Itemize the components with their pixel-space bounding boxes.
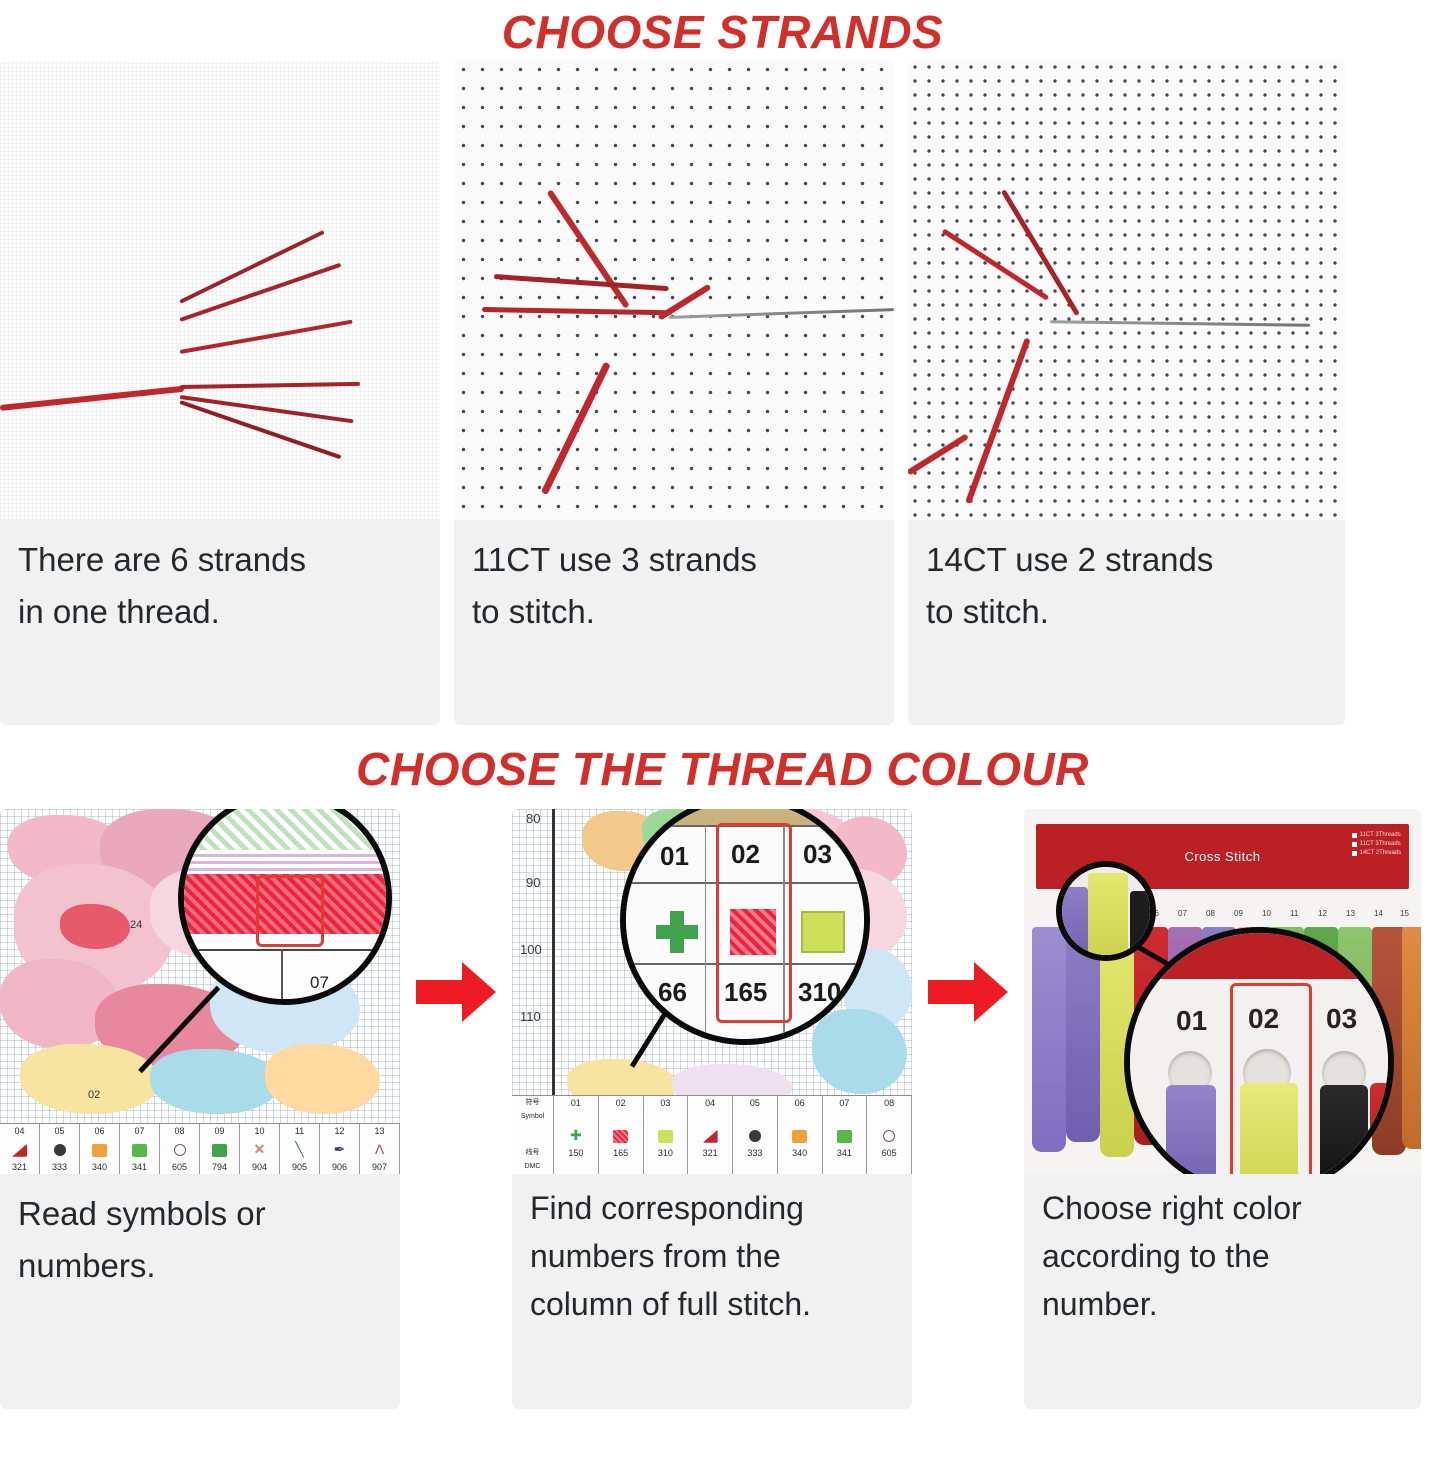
peg-number: 14 (1374, 909, 1383, 918)
caption-14ct: 14CT use 2 strands to stitch. (908, 520, 1345, 656)
skein-purple (1166, 1085, 1216, 1174)
legend-symbol-cell (823, 1124, 868, 1146)
skein-black (1320, 1085, 1368, 1174)
legend-header: 08 (867, 1096, 912, 1124)
card-11ct-three-strands: 11CT use 3 strands to stitch. (454, 60, 894, 725)
aida-14ct-texture (908, 60, 1345, 520)
chart-cell-label-24: 24 (130, 919, 142, 931)
magnifier-code-310: 310 (798, 977, 841, 1008)
legend-symbol-cell: ✒ (320, 1138, 360, 1160)
thread-organizer-card: Cross Stitch 11CT 3Threads 11CT 3Threads… (1024, 809, 1421, 1174)
legend-header: 04 (688, 1096, 733, 1124)
legend-header: 10 (240, 1124, 280, 1138)
chart-cell-label-02: 02 (88, 1089, 100, 1101)
legend-code: 310 (644, 1146, 689, 1174)
highlight-box (716, 823, 792, 1023)
highlight-box (1230, 983, 1312, 1174)
legend-code: 907 (360, 1160, 400, 1174)
peg-number: 13 (1346, 909, 1355, 918)
legend-code: 341 (120, 1160, 160, 1174)
legend-header: 03 (644, 1096, 689, 1124)
peg-number: 15 (1400, 909, 1409, 918)
magnifier-header-01: 01 (660, 841, 689, 872)
pattern-chart: 24 02 07 04 (0, 809, 400, 1174)
axis-tick-100: 100 (520, 942, 542, 957)
peg-number: 12 (1318, 909, 1327, 918)
magnifier-lens-detail: 01 02 03 (1124, 927, 1394, 1174)
caption-line-1: Read symbols or (18, 1188, 382, 1240)
magnifier-header-01: 01 (1176, 1005, 1207, 1037)
legend-code: 340 (778, 1146, 823, 1174)
legend-symbol-cell (733, 1124, 778, 1146)
chart-axis (552, 809, 555, 1114)
legend-header: 12 (320, 1124, 360, 1138)
caption-line-3: column of full stitch. (530, 1280, 894, 1328)
legend-header: 02 (599, 1096, 644, 1124)
magnifier-header-03: 03 (1326, 1003, 1357, 1035)
legend-symbol-cell (120, 1138, 160, 1160)
checkbox-icon (1352, 833, 1357, 838)
plain-fabric-texture (0, 60, 440, 520)
symbol-legend-table: 04 05 06 07 08 09 10 11 12 13 (0, 1123, 400, 1174)
legend-code: 906 (320, 1160, 360, 1174)
legend-code: 605 (867, 1146, 912, 1174)
checkbox-icon (1352, 851, 1357, 856)
peg-number: 11 (1290, 909, 1298, 918)
thread-card-options: 11CT 3Threads 11CT 3Threads 14CT 2Thread… (1352, 831, 1402, 858)
legend-symbol-cell (867, 1124, 912, 1146)
magnifier-lens: 07 (178, 809, 392, 1005)
legend-code: 794 (200, 1160, 240, 1174)
arrow-step-1-to-2 (414, 809, 498, 1174)
legend-rowlabel (512, 1124, 554, 1146)
option-row: 11CT 3Threads (1352, 840, 1402, 849)
option-label: 14CT 2Threads (1360, 849, 1402, 858)
legend-symbol-cell: ╲ (280, 1138, 320, 1160)
legend-code: 165 (599, 1146, 644, 1174)
legend-header: 07 (823, 1096, 868, 1124)
heading-choose-thread-colour: CHOOSE THE THREAD COLOUR (0, 725, 1445, 797)
photo-numbered-chart: 80 90 100 110 (512, 809, 912, 1174)
arrow-step-2-to-3 (926, 809, 1010, 1174)
caption-11ct: 11CT use 3 strands to stitch. (454, 520, 894, 656)
legend-symbol-cell (778, 1124, 823, 1146)
option-label: 11CT 3Threads (1360, 840, 1401, 849)
legend-rowlabel: 线号DMC (512, 1146, 554, 1174)
axis-tick-80: 80 (526, 811, 540, 826)
legend-header: 05 (40, 1124, 80, 1138)
legend-code-row: 线号DMC 150 165 310 321 333 340 341 605 (512, 1146, 912, 1174)
legend-header-row: 符号Symbol 01 02 03 04 05 06 07 08 (512, 1096, 912, 1124)
strands-card-row: There are 6 strands in one thread. 11CT … (0, 60, 1445, 725)
heading-choose-strands: CHOOSE STRANDS (0, 0, 1445, 60)
card-read-symbols: 24 02 07 04 (0, 809, 400, 1409)
card-six-strands: There are 6 strands in one thread. (0, 60, 440, 725)
legend-header: 05 (733, 1096, 778, 1124)
magnifier-lens: 01 02 03 66 165 310 (620, 809, 870, 1045)
legend-header-row: 04 05 06 07 08 09 10 11 12 13 (0, 1124, 400, 1138)
caption-line-1: 11CT use 3 strands (472, 534, 876, 586)
legend-symbol-cell (200, 1138, 240, 1160)
axis-tick-90: 90 (526, 875, 540, 890)
legend-code: 321 (688, 1146, 733, 1174)
symbol-lime-block (801, 911, 845, 953)
legend-code: 333 (40, 1160, 80, 1174)
card-find-numbers: 80 90 100 110 (512, 809, 912, 1409)
option-label: 11CT 3Threads (1360, 831, 1401, 840)
caption-six-strands: There are 6 strands in one thread. (0, 520, 440, 656)
peg-number: 10 (1262, 909, 1271, 918)
legend-header: 06 (778, 1096, 823, 1124)
caption-line-3: number. (1042, 1280, 1403, 1328)
caption-read-symbols: Read symbols or numbers. (0, 1174, 400, 1310)
legend-symbol-cell (688, 1124, 733, 1146)
magnifier-header-03: 03 (803, 839, 832, 870)
magnifier-code-66: 66 (658, 977, 687, 1008)
caption-choose-color: Choose right color according to the numb… (1024, 1174, 1421, 1346)
right-arrow-icon (928, 960, 1008, 1024)
legend-symbol-cell: ✚ (554, 1124, 599, 1146)
legend-symbol-cell (644, 1124, 689, 1146)
symbol-green-cross (656, 911, 698, 953)
photo-six-strands (0, 60, 440, 520)
legend-symbol-cell (80, 1138, 120, 1160)
caption-line-2: numbers. (18, 1240, 382, 1292)
legend-header: 08 (160, 1124, 200, 1138)
legend-code: 341 (823, 1146, 868, 1174)
caption-find-numbers: Find corresponding numbers from the colu… (512, 1174, 912, 1346)
peg-number: 08 (1206, 909, 1215, 918)
highlight-box (256, 875, 324, 947)
caption-line-2: numbers from the (530, 1232, 894, 1280)
caption-line-1: Choose right color (1042, 1184, 1403, 1232)
caption-line-1: Find corresponding (530, 1184, 894, 1232)
axis-tick-110: 110 (520, 1009, 541, 1024)
legend-code: 333 (733, 1146, 778, 1174)
legend-code: 321 (0, 1160, 40, 1174)
legend-code: 605 (160, 1160, 200, 1174)
legend-header: 01 (554, 1096, 599, 1124)
caption-line-2: in one thread. (18, 586, 422, 638)
thread-colour-card-row: 24 02 07 04 (0, 809, 1445, 1409)
photo-thread-card: Cross Stitch 11CT 3Threads 11CT 3Threads… (1024, 809, 1421, 1174)
right-arrow-icon (416, 960, 496, 1024)
option-row: 14CT 2Threads (1352, 849, 1402, 858)
legend-symbol-cell: Λ (360, 1138, 400, 1160)
legend-symbol-cell (160, 1138, 200, 1160)
option-row: 11CT 3Threads (1352, 831, 1402, 840)
legend-symbol-cell: ✕ (240, 1138, 280, 1160)
legend-code: 905 (280, 1160, 320, 1174)
peg-number: 09 (1234, 909, 1243, 918)
number-legend-table: 符号Symbol 01 02 03 04 05 06 07 08 ✚ (512, 1095, 912, 1174)
thread-skein (1032, 927, 1066, 1152)
legend-header: 11 (280, 1124, 320, 1138)
legend-header: 07 (120, 1124, 160, 1138)
legend-symbol-cell (40, 1138, 80, 1160)
aida-11ct-texture (454, 60, 894, 520)
caption-line-2: to stitch. (472, 586, 876, 638)
checkbox-icon (1352, 842, 1357, 847)
caption-line-2: according to the (1042, 1232, 1403, 1280)
legend-symbol-row: ✚ (512, 1124, 912, 1146)
legend-code: 150 (554, 1146, 599, 1174)
legend-header: 04 (0, 1124, 40, 1138)
card-choose-color: Cross Stitch 11CT 3Threads 11CT 3Threads… (1024, 809, 1421, 1409)
magnifier-label-07: 07 (310, 973, 329, 993)
thread-skein (1402, 927, 1421, 1149)
photo-14ct-aida (908, 60, 1345, 520)
peg-number: 07 (1178, 909, 1187, 918)
legend-header: 06 (80, 1124, 120, 1138)
numbered-pattern-chart: 80 90 100 110 (512, 809, 912, 1174)
legend-header: 09 (200, 1124, 240, 1138)
legend-code-row: 321 333 340 341 605 794 904 905 906 907 (0, 1160, 400, 1174)
photo-11ct-aida (454, 60, 894, 520)
card-14ct-two-strands: 14CT use 2 strands to stitch. (908, 60, 1345, 725)
photo-pattern-chart: 24 02 07 04 (0, 809, 400, 1174)
legend-rowlabel: 符号Symbol (512, 1096, 554, 1124)
caption-line-1: There are 6 strands (18, 534, 422, 586)
caption-line-2: to stitch. (926, 586, 1327, 638)
legend-code: 904 (240, 1160, 280, 1174)
legend-code: 340 (80, 1160, 120, 1174)
caption-line-1: 14CT use 2 strands (926, 534, 1327, 586)
legend-symbol-cell (599, 1124, 644, 1146)
legend-header: 13 (360, 1124, 400, 1138)
legend-symbol-cell (0, 1138, 40, 1160)
legend-symbol-row: ✕ ╲ ✒ Λ (0, 1138, 400, 1160)
